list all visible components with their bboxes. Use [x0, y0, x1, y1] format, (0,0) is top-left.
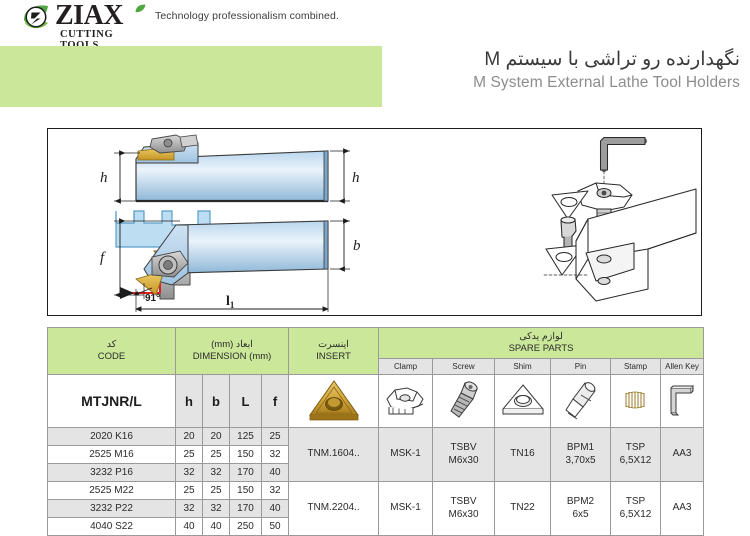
header-code: کد CODE [48, 328, 176, 375]
stamp-spring-icon [622, 389, 650, 411]
table-row: 2525 M22 25 25 150 32 TNM.2204.. MSK-1 T… [48, 482, 704, 500]
group-pin: BPM2 6x5 [551, 482, 611, 536]
row-b: 25 [203, 446, 230, 464]
pin-icon [561, 379, 601, 421]
subheader-stamp: Stamp [611, 359, 661, 375]
header-code-en: CODE [48, 351, 175, 363]
dim-letter-h: h [176, 375, 203, 428]
header-spare-parts-en: SPARE PARTS [379, 343, 703, 355]
title-band [0, 46, 378, 107]
dim-h-left-label: h [100, 170, 108, 186]
group-insert: TNM.2204.. [289, 482, 379, 536]
group-clamp: MSK-1 [379, 482, 433, 536]
group-stamp: TSP 6,5X12 [611, 428, 661, 482]
group-stamp-line1: TSP [611, 496, 660, 509]
brand-header: ZIAX CUTTING TOOLS Technology profession… [0, 0, 750, 45]
dim-b-label: b [353, 238, 361, 254]
group-stamp-line2: 6,5X12 [611, 455, 660, 468]
dim-letter-f: f [262, 375, 289, 428]
row-f: 32 [262, 482, 289, 500]
header-spare-parts-fa: لوازم یدکی [379, 331, 703, 343]
group-pin-line1: BPM1 [551, 442, 610, 455]
pin-icon-cell [551, 375, 611, 428]
clamp-icon-cell [379, 375, 433, 428]
dim-f-label: f [100, 250, 106, 266]
group-shim: TN22 [495, 482, 551, 536]
leaf-logo-icon [22, 4, 56, 32]
row-code: 2525 M22 [48, 482, 176, 500]
header-spare-parts: لوازم یدکی SPARE PARTS [379, 328, 704, 359]
clamp-icon [383, 383, 429, 417]
group-pin-line1: BPM2 [551, 496, 610, 509]
group-pin-line2: 6x5 [551, 509, 610, 522]
screw-icon [443, 379, 485, 421]
header-dimension-en: DIMENSION (mm) [176, 351, 288, 363]
row-l: 125 [230, 428, 262, 446]
group-screw-line1: TSBV [433, 496, 494, 509]
row-f: 40 [262, 500, 289, 518]
table-header-row-green: کد CODE ابعاد (mm) DIMENSION (mm) اینسرت… [48, 328, 704, 359]
group-screw-line1: TSBV [433, 442, 494, 455]
group-screw-line2: M6x30 [433, 509, 494, 522]
triangular-insert-icon [306, 377, 362, 423]
subheader-screw: Screw [433, 359, 495, 375]
row-f: 25 [262, 428, 289, 446]
row-f: 40 [262, 464, 289, 482]
group-stamp: TSP 6,5X12 [611, 482, 661, 536]
row-h: 25 [176, 446, 203, 464]
header-dimension: ابعاد (mm) DIMENSION (mm) [176, 328, 289, 375]
angle-91-label: 91° [145, 293, 160, 304]
group-pin-line2: 3,70x5 [551, 455, 610, 468]
header-code-fa: کد [48, 339, 175, 351]
header-dimension-fa: ابعاد (mm) [176, 339, 288, 351]
group-allen-key: AA3 [661, 482, 704, 536]
row-b: 32 [203, 500, 230, 518]
subheader-allen-key: Allen Key [661, 359, 704, 375]
group-stamp-line2: 6,5X12 [611, 509, 660, 522]
insert-icon-cell [289, 375, 379, 428]
header-insert-en: INSERT [289, 351, 378, 363]
row-h: 32 [176, 464, 203, 482]
group-pin: BPM1 3,70x5 [551, 428, 611, 482]
row-h: 20 [176, 428, 203, 446]
screw-icon-cell [433, 375, 495, 428]
stamp-icon-cell [611, 375, 661, 428]
row-code: 2020 K16 [48, 428, 176, 446]
row-l: 170 [230, 464, 262, 482]
specification-table: کد CODE ابعاد (mm) DIMENSION (mm) اینسرت… [47, 327, 704, 536]
drawing-svg: 25° h h [48, 129, 700, 314]
row-code: 3232 P22 [48, 500, 176, 518]
row-b: 25 [203, 482, 230, 500]
group-screw-line2: M6x30 [433, 455, 494, 468]
title-band-edge [378, 46, 382, 107]
shim-icon-cell [495, 375, 551, 428]
technical-drawing-panel: 25° h h [47, 128, 702, 316]
dim-l1-label: l1 [226, 294, 235, 310]
row-l: 150 [230, 446, 262, 464]
group-shim: TN16 [495, 428, 551, 482]
dim-h-right-label: h [352, 170, 360, 186]
row-h: 32 [176, 500, 203, 518]
dim-letter-b: b [203, 375, 230, 428]
table-icon-row: MTJNR/L h b L f [48, 375, 704, 428]
logo-wordmark: ZIAX [55, 1, 123, 31]
row-b: 20 [203, 428, 230, 446]
table-row: 2020 K16 20 20 125 25 TNM.1604.. MSK-1 T… [48, 428, 704, 446]
ziax-logo: ZIAX CUTTING TOOLS [22, 3, 150, 41]
page-title: نگهدارنده رو تراشی با سیستم M M System E… [395, 47, 740, 93]
logo-leaf-accent-icon [135, 4, 146, 13]
page-title-fa: نگهدارنده رو تراشی با سیستم M [395, 47, 740, 73]
subheader-shim: Shim [495, 359, 551, 375]
group-clamp: MSK-1 [379, 428, 433, 482]
row-b: 32 [203, 464, 230, 482]
row-l: 170 [230, 500, 262, 518]
subheader-pin: Pin [551, 359, 611, 375]
group-allen-key: AA3 [661, 428, 704, 482]
group-screw: TSBV M6x30 [433, 428, 495, 482]
header-insert-fa: اینسرت [289, 339, 378, 351]
subheader-clamp: Clamp [379, 359, 433, 375]
series-code-label: MTJNR/L [48, 375, 176, 428]
row-code: 2525 M16 [48, 446, 176, 464]
page-title-en: M System External Lathe Tool Holders [395, 73, 740, 93]
exploded-assembly-view [544, 138, 696, 302]
group-stamp-line1: TSP [611, 442, 660, 455]
row-l: 150 [230, 482, 262, 500]
row-f: 32 [262, 446, 289, 464]
header-insert: اینسرت INSERT [289, 328, 379, 375]
brand-tagline: Technology professionalism combined. [155, 10, 339, 22]
allen-key-icon-cell [661, 375, 704, 428]
group-screw: TSBV M6x30 [433, 482, 495, 536]
dim-letter-l: L [230, 375, 262, 428]
row-h: 25 [176, 482, 203, 500]
shim-icon [499, 381, 547, 419]
top-side-view: h h [100, 135, 360, 201]
group-insert: TNM.1604.. [289, 428, 379, 482]
row-code: 3232 P16 [48, 464, 176, 482]
allen-key-icon [665, 383, 699, 417]
